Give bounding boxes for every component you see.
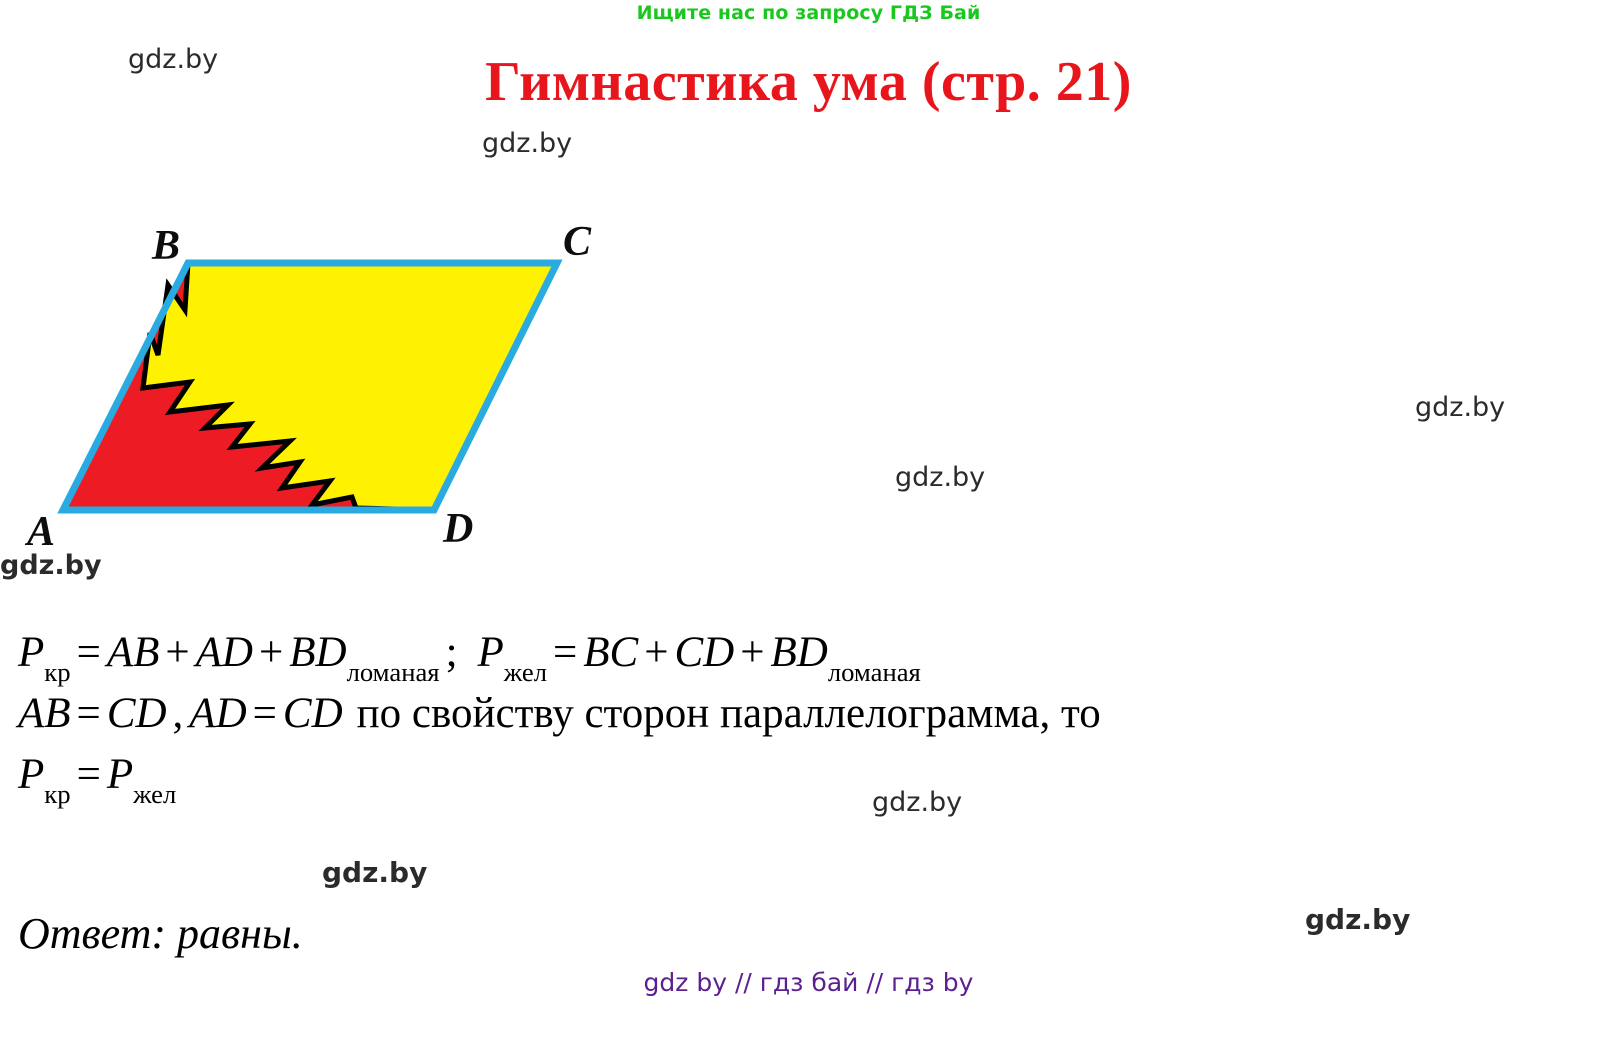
segment-ad: AD: [189, 690, 246, 737]
reasoning-text: по свойству сторон параллелограмма, то: [357, 690, 1101, 737]
watermark: gdz.by: [1305, 903, 1410, 936]
parallelogram-svg: [0, 200, 660, 560]
perimeter-yellow-symbol: P: [107, 751, 133, 798]
segment-cd: CD: [107, 690, 167, 737]
segment-bd: BD: [770, 629, 827, 676]
perimeter-yellow-subscript: жел: [133, 779, 176, 809]
perimeter-red-subscript: кр: [44, 657, 70, 687]
perimeter-yellow-symbol: P: [478, 629, 504, 676]
segment-bc: BC: [583, 629, 638, 676]
equals-sign: =: [547, 629, 583, 676]
equals-sign: =: [71, 629, 107, 676]
answer-text: Ответ: равны.: [18, 908, 303, 959]
vertex-label-c: C: [563, 218, 591, 266]
formula-line-3: Pкр=Pжел: [18, 747, 1588, 804]
segment-bd-subscript: ломаная: [347, 657, 440, 687]
segment-bd: BD: [289, 629, 346, 676]
plus-sign: +: [253, 629, 289, 676]
formula-line-1: Pкр=AB+AD+BDломаная;Pжел=BC+CD+BDломаная: [18, 625, 1588, 682]
vertex-label-d: D: [443, 505, 473, 553]
watermark: gdz.by: [128, 44, 218, 75]
plus-sign: +: [734, 629, 770, 676]
promo-banner: Ищите нас по запросу ГДЗ Бай: [0, 2, 1617, 24]
perimeter-red-symbol: P: [18, 629, 44, 676]
segment-ab: AB: [18, 690, 71, 737]
equals-sign: =: [71, 690, 107, 737]
equals-sign: =: [247, 690, 283, 737]
segment-ab: AB: [107, 629, 160, 676]
segment-cd: CD: [283, 690, 343, 737]
comma: ,: [167, 690, 190, 737]
watermark: gdz.by: [322, 856, 427, 889]
segment-ad: AD: [196, 629, 253, 676]
equals-sign: =: [71, 751, 107, 798]
plus-sign: +: [159, 629, 195, 676]
footer-branding: gdz by // гдз бай // гдз by: [0, 968, 1617, 997]
formula-line-2: AB=CD,AD=CDпо свойству сторон параллелог…: [18, 686, 1588, 743]
page-title: Гимнастика ума (стр. 21): [0, 50, 1617, 114]
parallelogram-figure: [0, 200, 660, 560]
perimeter-red-symbol: P: [18, 751, 44, 798]
vertex-label-b: B: [152, 222, 180, 270]
perimeter-red-subscript: кр: [44, 779, 70, 809]
segment-cd: CD: [674, 629, 734, 676]
plus-sign: +: [638, 629, 674, 676]
watermark: gdz.by: [895, 462, 985, 493]
vertex-label-a: A: [27, 508, 55, 556]
solution-block: Pкр=AB+AD+BDломаная;Pжел=BC+CD+BDломаная…: [18, 625, 1588, 807]
watermark: gdz.by: [482, 128, 572, 159]
semicolon: ;: [440, 629, 464, 676]
watermark: gdz.by: [1415, 392, 1505, 423]
segment-bd-subscript: ломаная: [828, 657, 921, 687]
perimeter-yellow-subscript: жел: [504, 657, 547, 687]
